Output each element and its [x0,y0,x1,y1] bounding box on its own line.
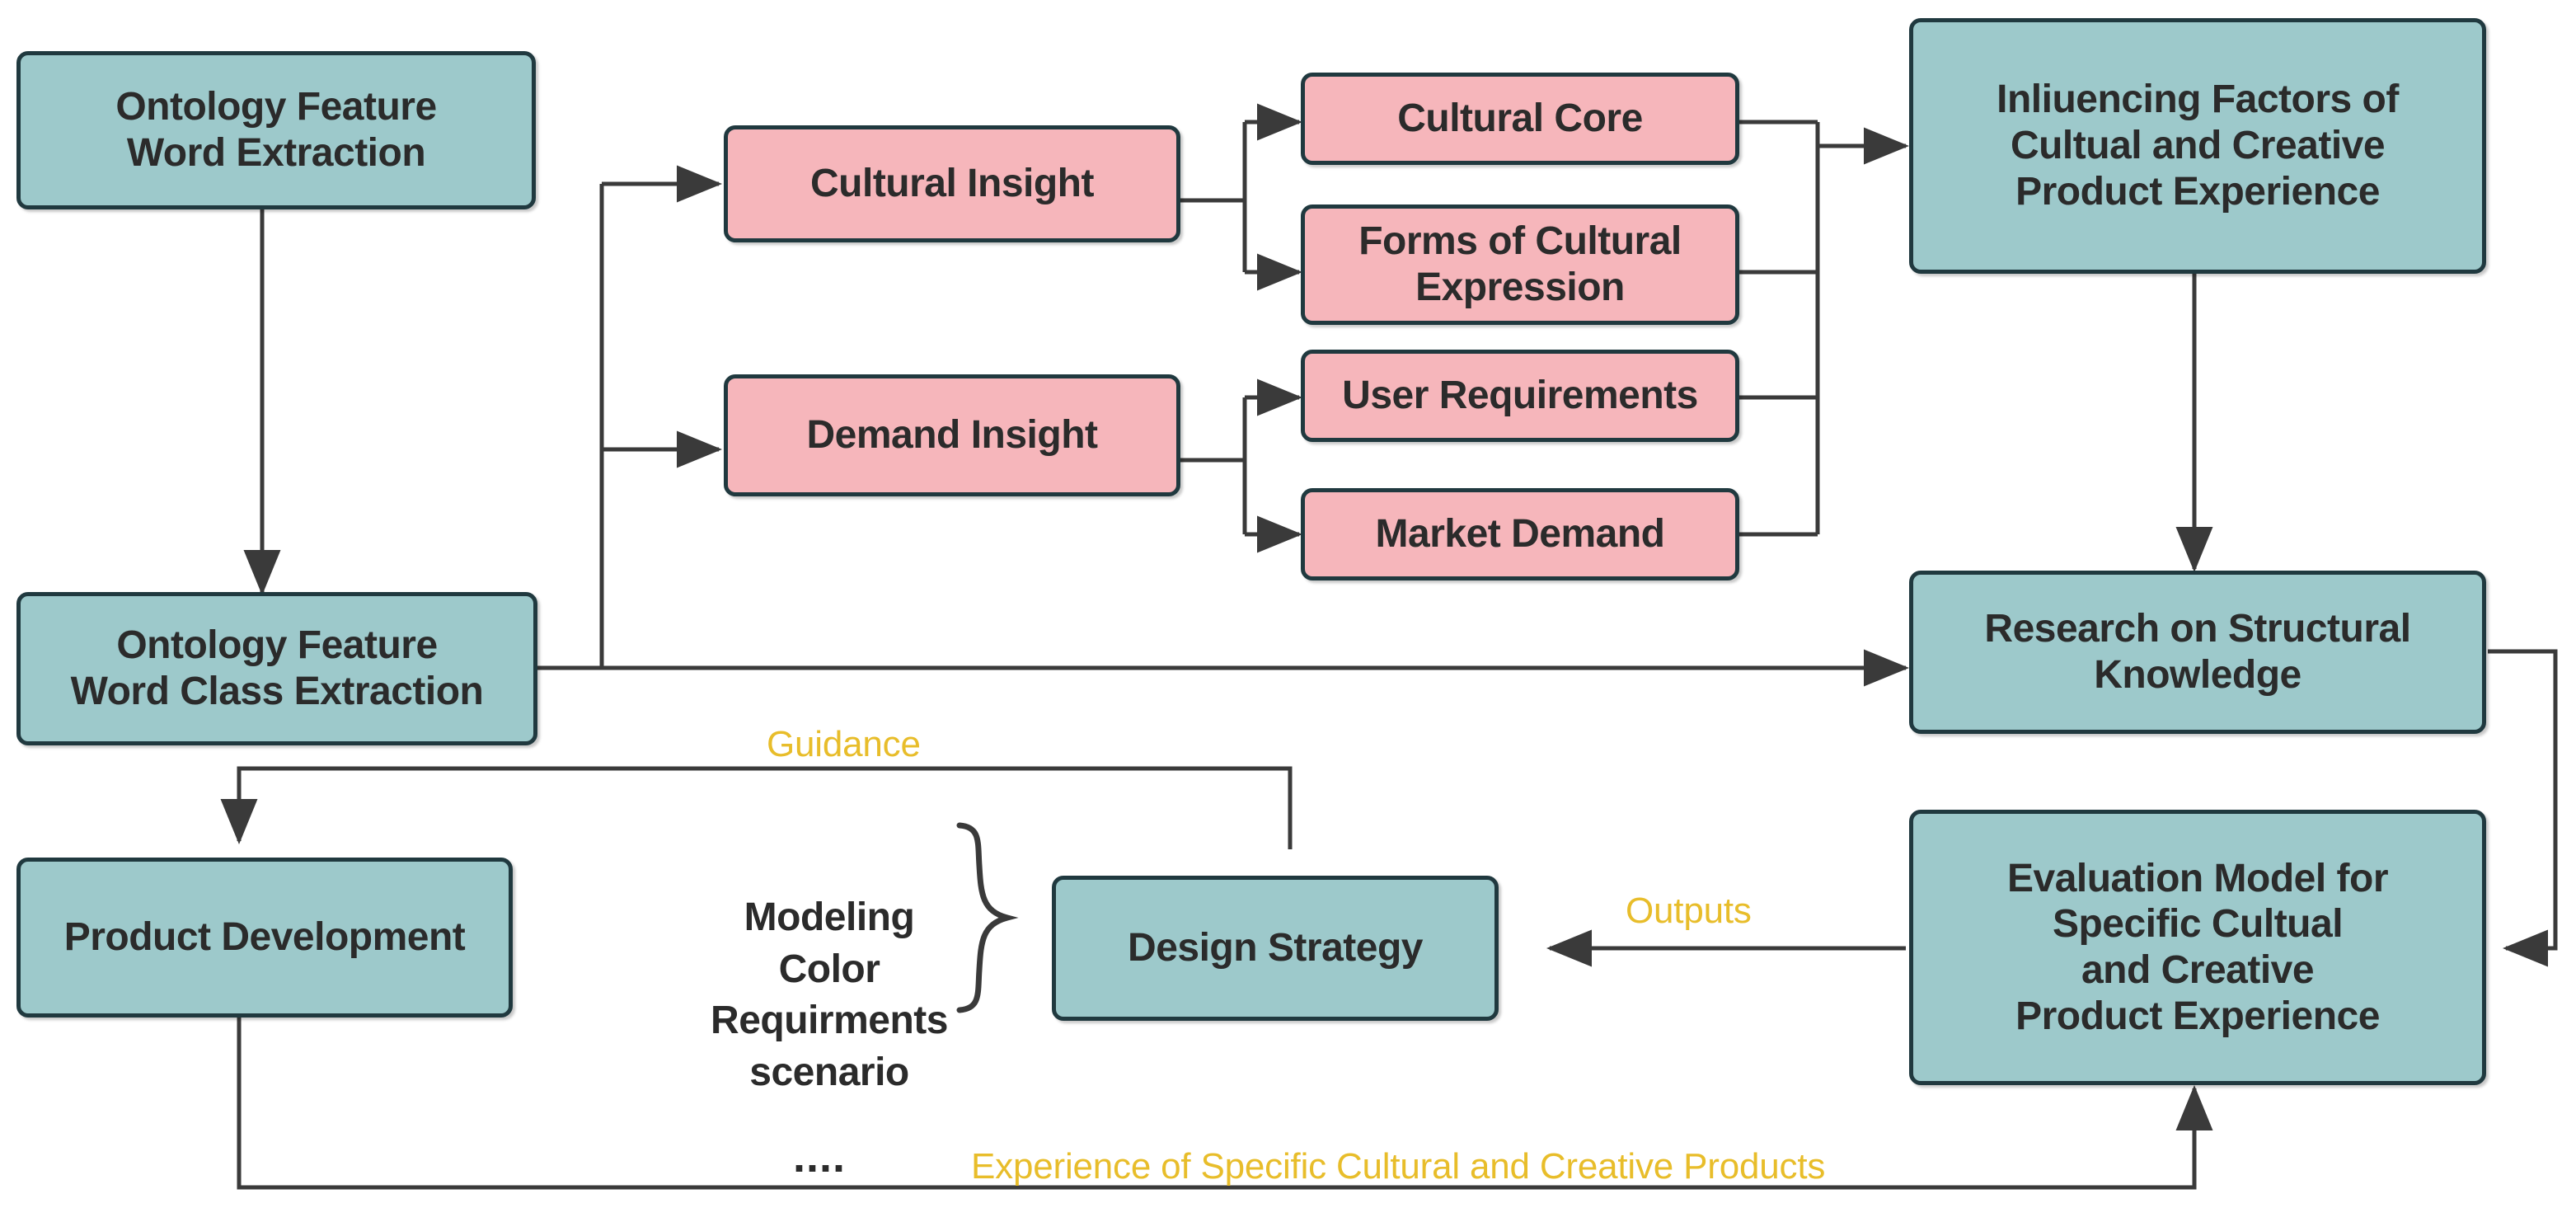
node-cultural-core[interactable]: Cultural Core [1301,73,1739,165]
outputs-text: Outputs [1626,891,1752,931]
edge-label-experience-feedback: Experience of Specific Cultural and Crea… [971,1146,1825,1187]
node-label: Ontology Feature Word Extraction [115,84,436,176]
node-market-demand[interactable]: Market Demand [1301,488,1739,580]
edge-label-outputs: Outputs [1626,891,1752,932]
node-product-development[interactable]: Product Development [16,858,513,1018]
node-label: Product Development [64,914,466,961]
node-label: Ontology Feature Word Class Extraction [71,623,484,714]
node-cultural-insight[interactable]: Cultural Insight [724,125,1180,242]
ellipsis-text: .... [793,1132,846,1182]
design-attribute-items: Modeling Color Requirments scenario [711,895,948,1093]
edge-label-guidance: Guidance [767,724,921,765]
ellipsis-marker: .... [793,1131,846,1182]
design-attribute-list: Modeling Color Requirments scenario [706,841,953,1098]
edge-research-to-evaluation [2488,651,2555,948]
node-ontology-feature-word-extraction[interactable]: Ontology Feature Word Extraction [16,51,536,209]
diagram-canvas: Ontology Feature Word Extraction Ontolog… [0,0,2576,1222]
edge-design-strategy-guidance [239,768,1290,849]
edge-demand-insight-fanout [1180,397,1245,460]
node-label: Research on Structural Knowledge [1984,606,2410,698]
edge-cultural-insight-fanout [1180,122,1245,200]
node-forms-of-cultural-expression[interactable]: Forms of Cultural Expression [1301,204,1739,325]
node-research-on-structural-knowledge[interactable]: Research on Structural Knowledge [1909,571,2486,734]
node-label: Demand Insight [806,412,1097,458]
node-label: Inliuencing Factors of Cultual and Creat… [1997,77,2399,214]
node-ontology-feature-word-class-extraction[interactable]: Ontology Feature Word Class Extraction [16,592,537,745]
node-evaluation-model[interactable]: Evaluation Model for Specific Cultual an… [1909,810,2486,1085]
node-label: Market Demand [1376,511,1665,557]
attribute-brace [960,825,1007,1010]
node-demand-insight[interactable]: Demand Insight [724,374,1180,496]
node-design-strategy[interactable]: Design Strategy [1052,876,1499,1021]
node-label: Cultural Core [1397,96,1643,142]
node-label: Forms of Cultural Expression [1358,219,1682,310]
node-label: Design Strategy [1128,925,1423,971]
experience-feedback-text: Experience of Specific Cultural and Crea… [971,1146,1825,1187]
node-influencing-factors[interactable]: Inliuencing Factors of Cultual and Creat… [1909,18,2486,274]
node-label: User Requirements [1342,373,1698,419]
node-user-requirements[interactable]: User Requirements [1301,350,1739,442]
guidance-text: Guidance [767,724,921,764]
node-label: Evaluation Model for Specific Cultual an… [2007,856,2388,1040]
node-label: Cultural Insight [810,161,1094,207]
